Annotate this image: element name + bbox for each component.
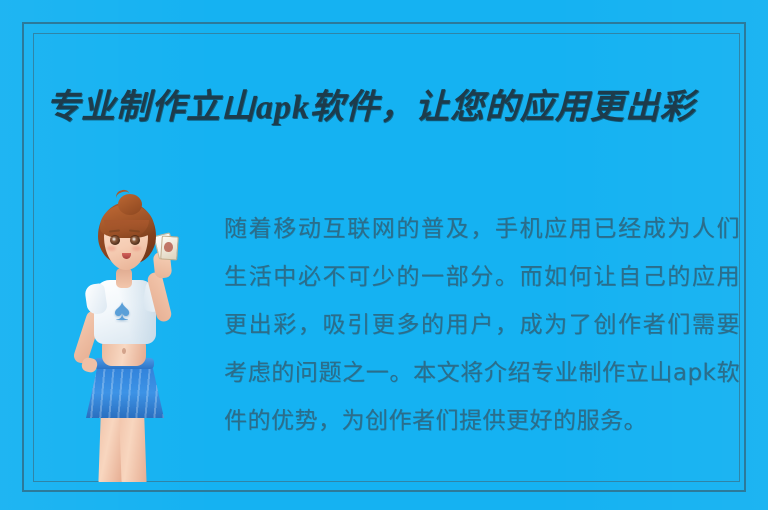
character-illustration: ♠ <box>60 176 188 482</box>
body-paragraph: 随着移动互联网的普及，手机应用已经成为人们生活中必不可少的一部分。而如何让自己的… <box>224 205 740 445</box>
spade-icon: ♠ <box>108 298 136 324</box>
blush-right <box>132 246 141 251</box>
blush-left <box>107 246 116 251</box>
skirt-pleats <box>86 362 164 418</box>
navel <box>122 348 126 354</box>
neck <box>116 268 132 288</box>
page-title: 专业制作立山apk软件，让您的应用更出彩 <box>46 81 746 135</box>
promo-banner: ♠ 专业制作立山apk软件，让您的应用更出彩 随着移动互联网的普及，手机应用已经… <box>0 0 768 510</box>
sleeve-left <box>84 283 108 315</box>
eye-right <box>130 236 140 245</box>
eye-left <box>110 236 120 245</box>
